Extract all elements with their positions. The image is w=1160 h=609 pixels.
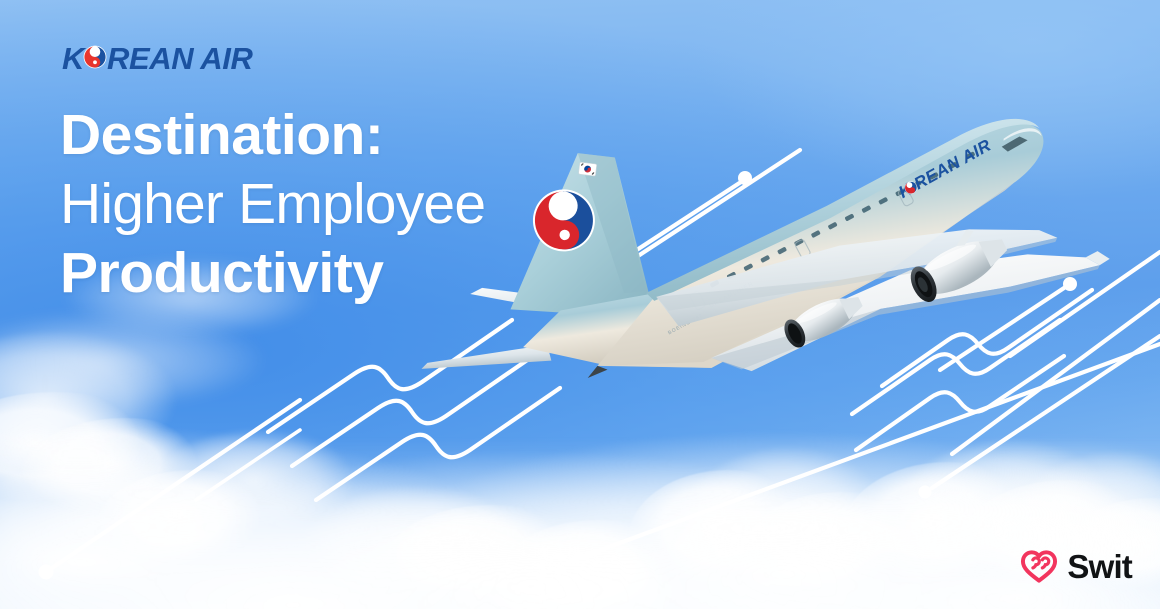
swit-mark-comma-1 [1033,558,1039,568]
headline-block: Destination: Higher Employee Productivit… [60,107,620,302]
swit-mark-comma-2 [1043,558,1049,568]
apu-tailcone [587,366,607,378]
swit-heart-icon [1020,549,1058,583]
swit-wordmark: Swit [1067,550,1132,583]
korean-air-logo: K REAN AIR [62,42,274,76]
headline-line-2: Higher Employee [60,176,620,233]
korean-air-logo-k: K [62,42,87,76]
headline-line-3: Productivity [60,245,620,302]
swit-logo: Swit [1020,549,1132,583]
korean-air-logo-rest: REAN AIR [107,42,254,76]
taegeuk-icon [84,46,107,69]
korean-air-swit-banner: .ln { stroke:#ffffff; stroke-width:4.2; … [0,0,1160,609]
headline-line-1: Destination: [60,107,620,164]
korean-air-logo-svg: K REAN AIR [62,42,274,76]
